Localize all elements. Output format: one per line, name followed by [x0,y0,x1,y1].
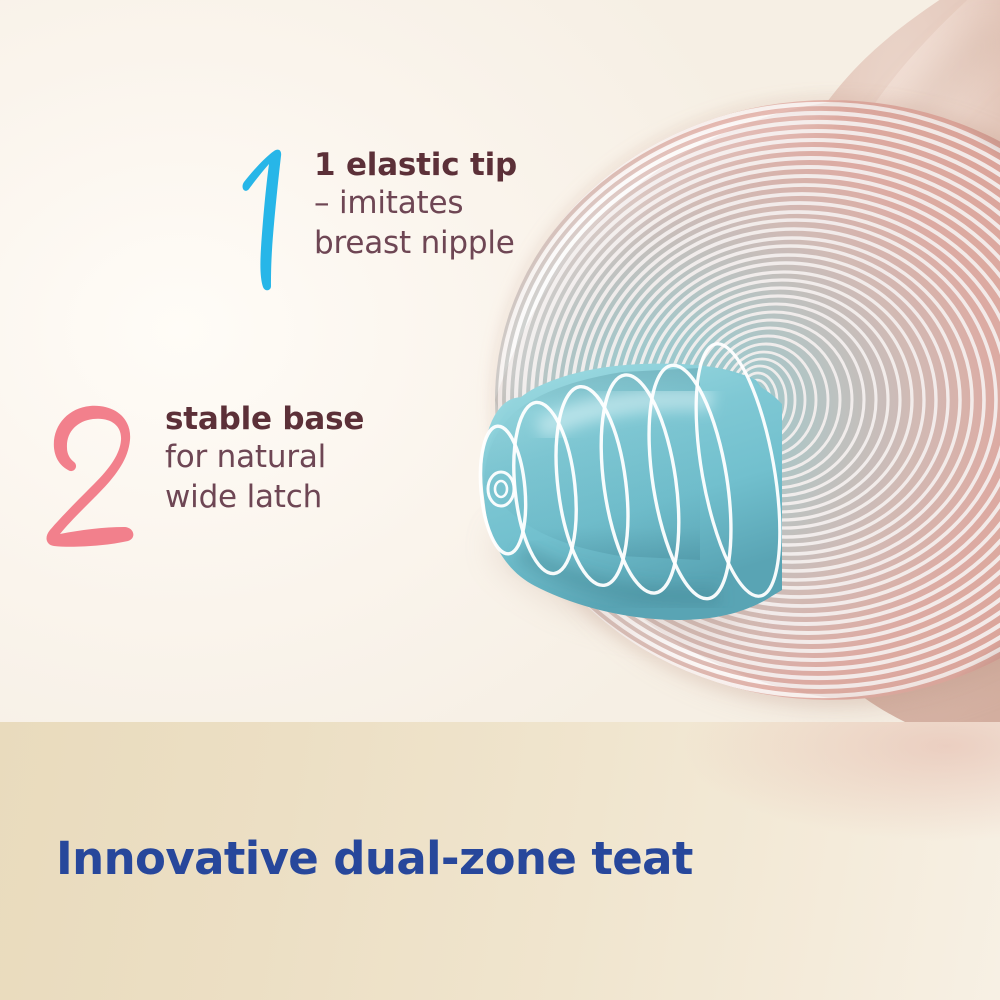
callout-2-line-2: wide latch [165,477,364,517]
top-illustration-panel: 1 elastic tip – imitates breast nipple s… [0,0,1000,722]
handwritten-two-icon [42,396,147,556]
callout-2-heading: stable base [165,402,364,437]
callout-1-text: 1 elastic tip – imitates breast nipple [314,140,517,263]
callout-2-line-1: for natural [165,437,364,477]
callout-2-text: stable base for natural wide latch [165,392,364,517]
callout-1: 1 elastic tip – imitates breast nipple [238,140,517,294]
banner-warm-tint [680,722,1000,842]
dual-zone-teat-graphic [0,0,1000,722]
handwritten-one-icon [238,144,298,294]
banner-title: Innovative dual-zone teat [56,832,693,885]
callout-1-line-2: breast nipple [314,223,517,263]
callout-1-line-1: – imitates [314,183,517,223]
callout-1-heading: 1 elastic tip [314,148,517,183]
callout-2: stable base for natural wide latch [42,392,364,556]
product-illustration [0,0,1000,722]
poster-root: 1 elastic tip – imitates breast nipple s… [0,0,1000,1000]
